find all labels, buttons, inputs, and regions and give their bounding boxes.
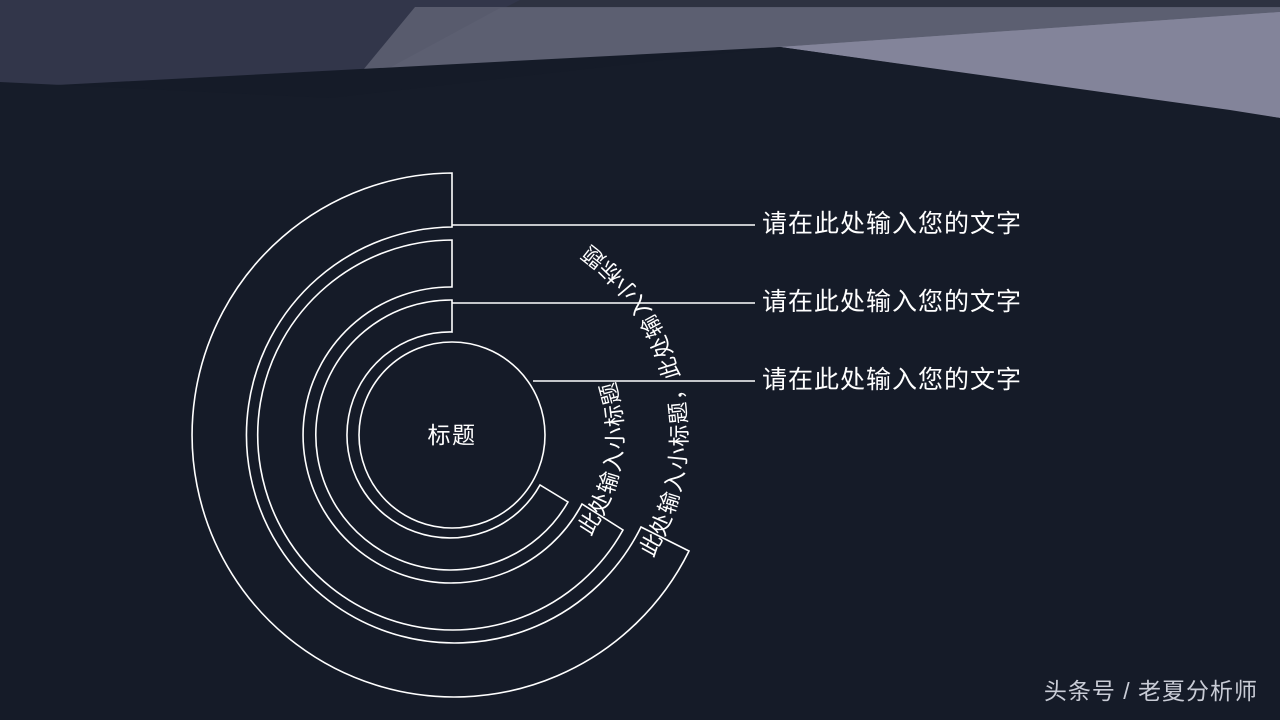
middle-ring-curved-label: 此处输入小标题 <box>573 378 628 539</box>
ring-diagram: 此处输入小标题，此处输入小标题 此处输入小标题 标题 <box>0 0 1280 720</box>
slide-canvas: 此处输入小标题，此处输入小标题 此处输入小标题 标题 请在此处输入您的文字 请在… <box>0 0 1280 720</box>
center-title: 标题 <box>428 422 477 448</box>
callout-label-2[interactable]: 请在此处输入您的文字 <box>762 290 1022 315</box>
callout-label-1[interactable]: 请在此处输入您的文字 <box>762 212 1022 237</box>
watermark-credit: 头条号 / 老夏分析师 <box>1044 672 1258 706</box>
callout-label-3[interactable]: 请在此处输入您的文字 <box>762 368 1022 393</box>
middle-ring-curved-label-text: 此处输入小标题 <box>573 378 628 539</box>
